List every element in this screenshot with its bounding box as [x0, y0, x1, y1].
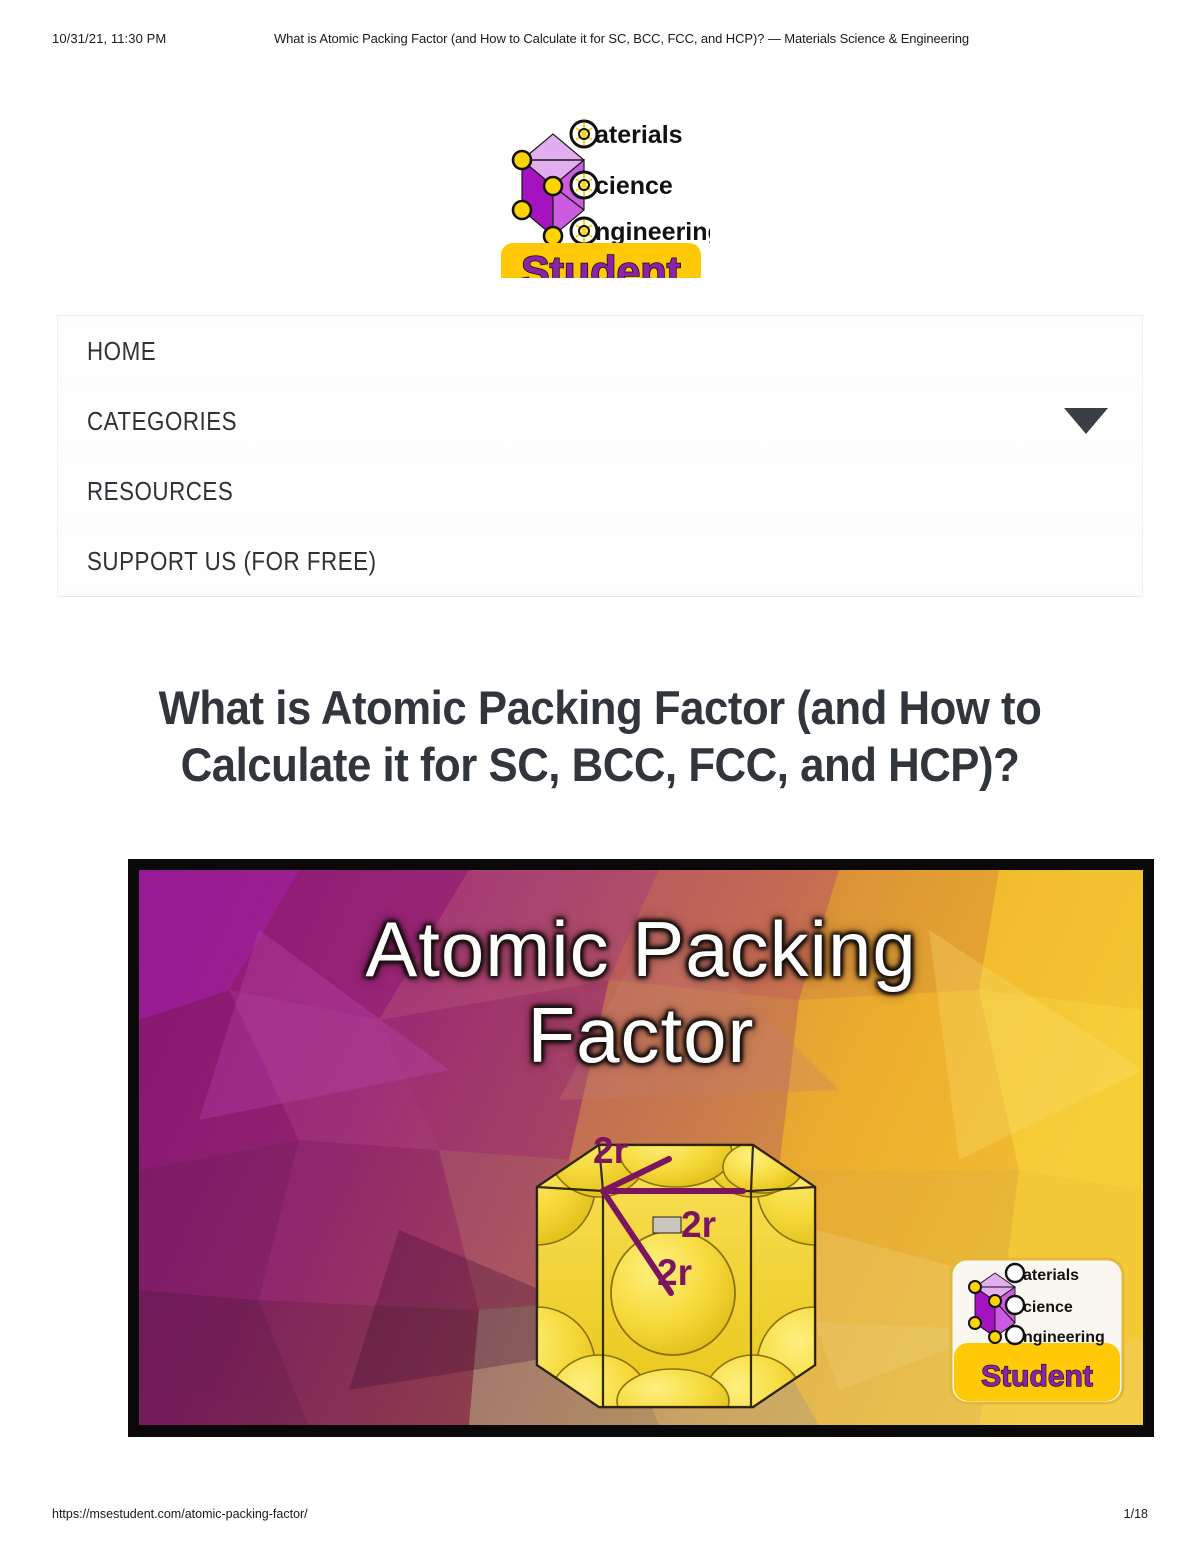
- print-footer: https://msestudent.com/atomic-packing-fa…: [0, 1507, 1200, 1525]
- logo-word-materials: aterials: [595, 121, 683, 149]
- page-title-line-2: Calculate it for SC, BCC, FCC, and HCP)?: [135, 736, 1065, 793]
- print-page-number: 1/18: [1124, 1507, 1148, 1521]
- nav-item-support-us[interactable]: SUPPORT US (FOR FREE): [58, 526, 1142, 596]
- logo-word-engineering: ngineering: [595, 218, 710, 246]
- svg-text:aterials: aterials: [1023, 1267, 1079, 1284]
- nav-item-label: CATEGORIES: [87, 406, 237, 437]
- label-2r-top: 2r: [593, 1130, 628, 1171]
- svg-text:cience: cience: [1023, 1299, 1073, 1316]
- site-logo[interactable]: aterials cience ngineering Student: [495, 98, 710, 278]
- featured-image-canvas: Atomic Packing Factor: [139, 870, 1143, 1425]
- print-document-title: What is Atomic Packing Factor (and How t…: [274, 31, 969, 46]
- banner-title-line-2: Factor: [139, 992, 1143, 1078]
- nav-item-label: RESOURCES: [87, 476, 233, 507]
- svg-text:ngineering: ngineering: [1023, 1329, 1105, 1346]
- print-header: 10/31/21, 11:30 PM What is Atomic Packin…: [0, 28, 1200, 48]
- nav-item-home[interactable]: HOME: [58, 316, 1142, 386]
- svg-text:Student: Student: [981, 1360, 1093, 1393]
- banner-title-line-1: Atomic Packing: [139, 906, 1143, 992]
- nav-item-label: HOME: [87, 336, 156, 367]
- site-logo-graphic: aterials cience ngineering Student: [495, 98, 710, 278]
- logo-student-banner-text: Student: [521, 248, 681, 278]
- chevron-down-icon[interactable]: [1064, 408, 1108, 434]
- main-navigation: HOME CATEGORIES RESOURCES SUPPORT US (FO…: [57, 315, 1143, 597]
- watermark-logo: aterials cience ngineering Student: [949, 1257, 1125, 1405]
- label-2r-side: 2r: [681, 1204, 716, 1245]
- label-2r-diagonal: 2r: [657, 1252, 692, 1293]
- page-title-line-1: What is Atomic Packing Factor (and How t…: [135, 679, 1065, 736]
- nav-item-label: SUPPORT US (FOR FREE): [87, 546, 377, 577]
- print-source-url: https://msestudent.com/atomic-packing-fa…: [52, 1507, 308, 1521]
- banner-title: Atomic Packing Factor: [139, 906, 1143, 1078]
- featured-image: Atomic Packing Factor: [128, 859, 1154, 1437]
- nav-item-resources[interactable]: RESOURCES: [58, 456, 1142, 526]
- page-title: What is Atomic Packing Factor (and How t…: [100, 679, 1100, 793]
- print-date: 10/31/21, 11:30 PM: [52, 31, 166, 46]
- hcp-unit-cell-diagram: 2r 2r 2r: [521, 1125, 831, 1425]
- nav-item-categories[interactable]: CATEGORIES: [58, 386, 1142, 456]
- logo-word-science: cience: [595, 172, 673, 200]
